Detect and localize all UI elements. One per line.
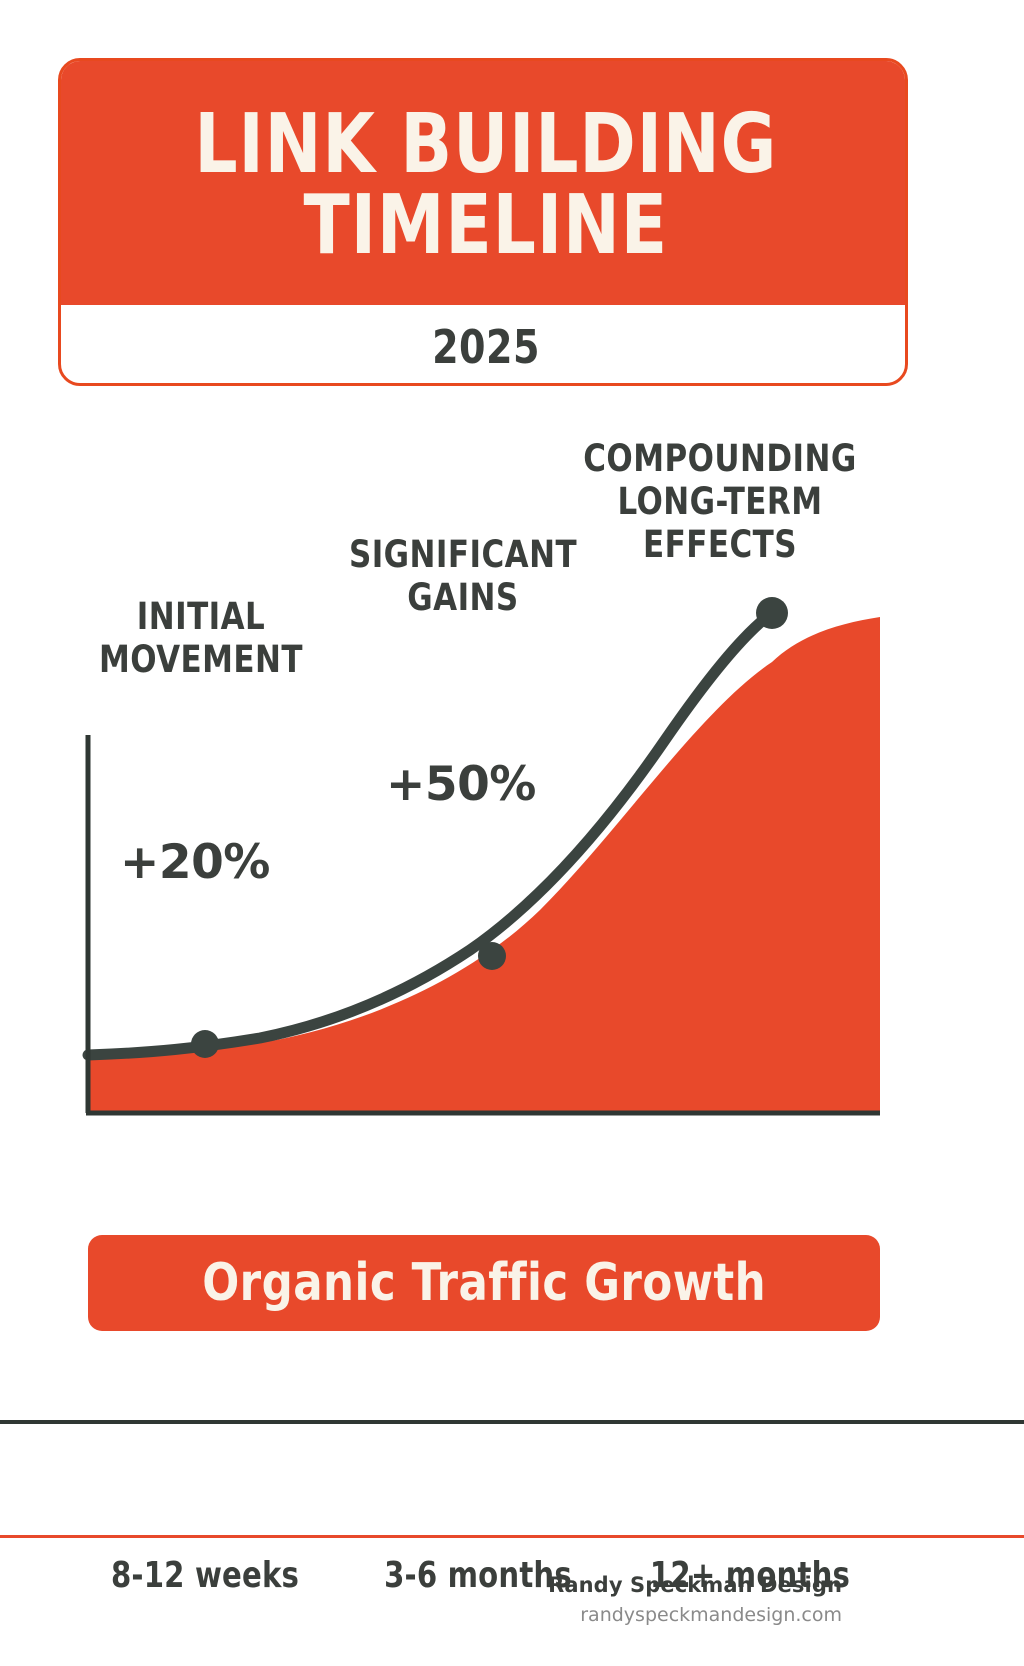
data-point-3[interactable] — [756, 597, 788, 629]
x-tick-8-12-weeks: 8-12 weeks — [97, 1555, 313, 1596]
growth-chart: INITIAL MOVEMENT SIGNIFICANT GAINS COMPO… — [0, 410, 1024, 1170]
page-title-line1: LINK BUILDING — [195, 105, 778, 185]
stage-label-initial-movement-line2: MOVEMENT — [70, 639, 332, 682]
stage-label-significant-gains: SIGNIFICANT GAINS — [328, 534, 598, 620]
stage-label-significant-gains-line2: GAINS — [328, 577, 598, 620]
stage-label-significant-gains-line1: SIGNIFICANT — [328, 534, 598, 577]
divider-orange — [0, 1535, 1024, 1538]
stage-label-initial-movement: INITIAL MOVEMENT — [70, 596, 332, 682]
header-title-band: LINK BUILDING TIMELINE — [58, 58, 908, 305]
data-point-1[interactable] — [191, 1030, 219, 1058]
header-card: LINK BUILDING TIMELINE 2025 — [58, 58, 908, 386]
organic-traffic-growth-banner: Organic Traffic Growth — [88, 1235, 880, 1331]
stage-label-initial-movement-line1: INITIAL — [70, 596, 332, 639]
footer: Randy Speckman Design randyspeckmandesig… — [548, 1573, 842, 1626]
value-label-50-percent: +50% — [386, 757, 536, 812]
year-label: 2025 — [95, 308, 877, 386]
stage-label-compounding-effects-line3: EFFECTS — [571, 524, 869, 567]
stage-label-compounding-effects-line1: COMPOUNDING — [571, 438, 869, 481]
stage-label-compounding-effects: COMPOUNDING LONG-TERM EFFECTS — [571, 438, 869, 567]
stage-label-compounding-effects-line2: LONG-TERM — [571, 481, 869, 524]
footer-company-name: Randy Speckman Design — [548, 1573, 842, 1597]
page-title-line2: TIMELINE — [195, 186, 778, 266]
page-title: LINK BUILDING TIMELINE — [195, 105, 778, 266]
footer-website: randyspeckmandesign.com — [548, 1604, 842, 1626]
divider-dark — [0, 1420, 1024, 1424]
banner-label: Organic Traffic Growth — [202, 1253, 766, 1313]
data-point-2[interactable] — [478, 942, 506, 970]
value-label-20-percent: +20% — [120, 835, 270, 890]
